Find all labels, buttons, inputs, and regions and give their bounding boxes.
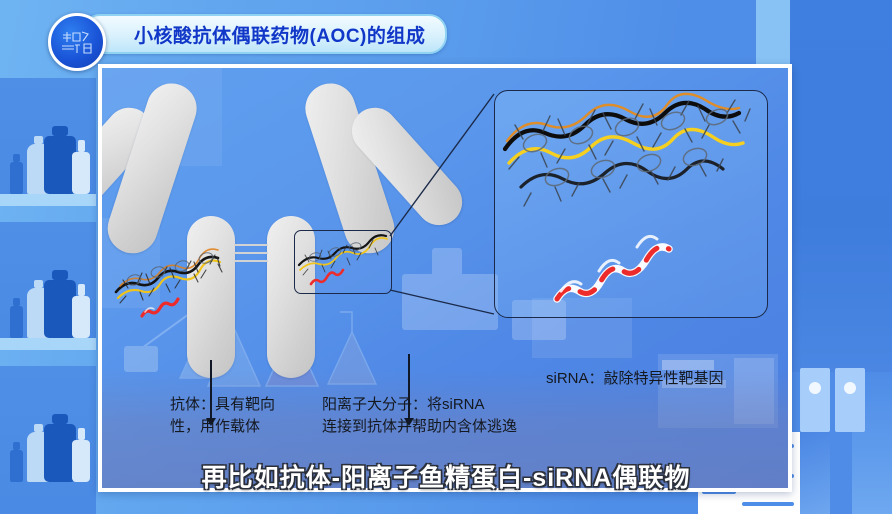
shelf-row	[0, 78, 96, 206]
cabinet-knob-icon	[809, 382, 821, 394]
cabinet-door	[835, 368, 865, 432]
bottle-silhouette	[10, 306, 23, 338]
bottle-silhouette	[72, 152, 90, 194]
red-white-helix-icon	[557, 236, 669, 299]
page-title: 小核酸抗体偶联药物(AOC)的组成	[134, 21, 425, 48]
molecule-inset-icon	[294, 230, 392, 294]
circular-brand-badge-icon	[48, 13, 106, 71]
annotation-cationic-line1: 阳离子大分子：将siRNA	[322, 394, 517, 416]
annotation-sirna: siRNA：敲除特异性靶基因	[546, 368, 724, 390]
bottle-silhouette	[10, 162, 23, 194]
screenshot-stage: 小核酸抗体偶联药物(AOC)的组成	[0, 0, 892, 514]
page-title-pill: 小核酸抗体偶联药物(AOC)的组成	[82, 14, 447, 54]
annotation-antibody-line1: 抗体：具有靶向	[170, 394, 275, 416]
shelf-row	[0, 222, 96, 350]
annotation-cationic-line2: 连接到抗体并帮助内含体逃逸	[322, 416, 517, 438]
annotation-antibody-line2: 性，用作载体	[170, 416, 275, 438]
bottle-silhouette	[72, 296, 90, 338]
annotation-cationic-macromolecule: 阳离子大分子：将siRNA 连接到抗体并帮助内含体逃逸	[322, 394, 517, 438]
subtitle-caption: 再比如抗体-阳离子鱼精蛋白-siRNA偶联物	[0, 458, 892, 494]
left-shelf-unit	[0, 78, 96, 514]
cationic-macromolecule-sirna-icon	[108, 226, 232, 318]
annotation-antibody: 抗体：具有靶向 性，用作载体	[170, 394, 275, 438]
annotation-sirna-line1: siRNA：敲除特异性靶基因	[546, 368, 724, 390]
cabinet-door	[800, 368, 830, 432]
cabinet-knob-icon	[844, 382, 856, 394]
diagram-panel: 抗体：具有靶向 性，用作载体 阳离子大分子：将siRNA 连接到抗体并帮助内含体…	[98, 64, 792, 492]
sirna-molecule-magnified-icon	[494, 90, 768, 318]
